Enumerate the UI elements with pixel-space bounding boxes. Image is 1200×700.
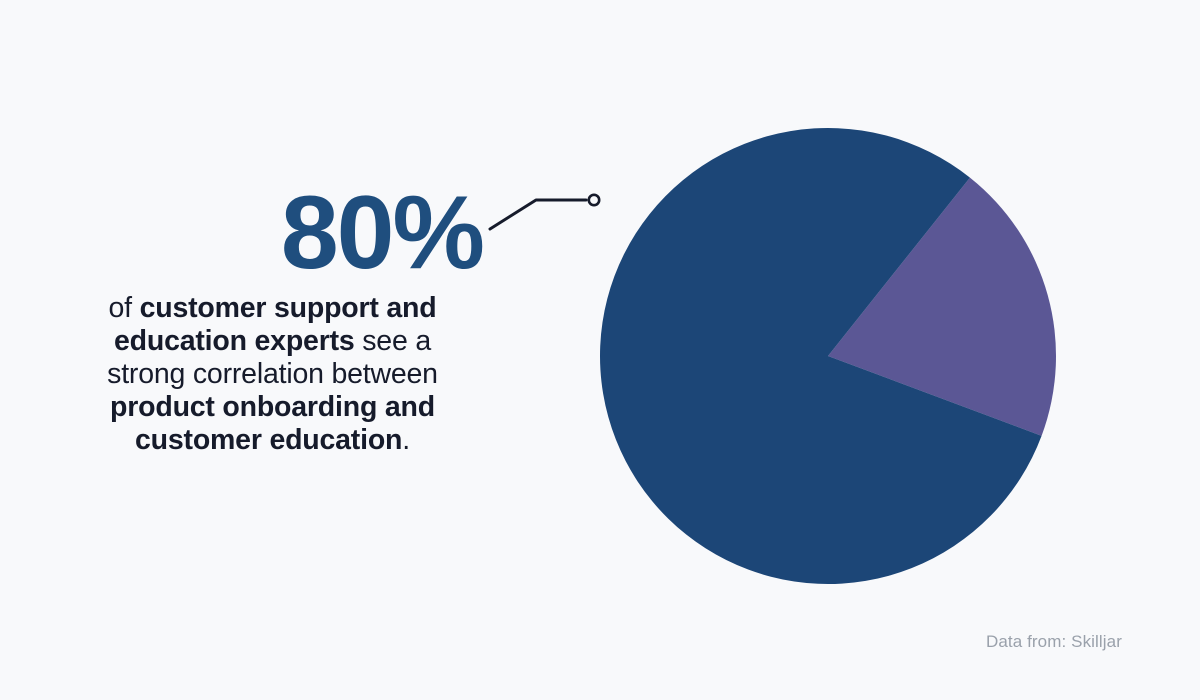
statistic-block: 80% of customer support andeducation exp…: [60, 186, 485, 458]
statement-segment: product onboarding and: [110, 391, 435, 423]
statement-segment: education experts: [114, 325, 355, 357]
statement-segment: customer education: [135, 424, 402, 456]
source-caption: Data from: Skilljar: [986, 632, 1122, 652]
infographic-canvas: 80% of customer support andeducation exp…: [0, 0, 1200, 700]
statement-segment: customer support and: [140, 292, 437, 324]
leader-line-path: [490, 200, 586, 229]
statement-segment: .: [402, 424, 410, 456]
leader-line-endpoint-marker: [589, 195, 599, 205]
statement-segment: strong correlation between: [107, 358, 438, 390]
pie-chart: [600, 128, 1064, 592]
pie-chart-svg: [600, 128, 1064, 592]
headline-percentage: 80%: [60, 186, 485, 282]
statement-segment: see a: [355, 325, 431, 357]
statement-text: of customer support andeducation experts…: [60, 292, 485, 458]
statement-segment: of: [109, 292, 140, 324]
